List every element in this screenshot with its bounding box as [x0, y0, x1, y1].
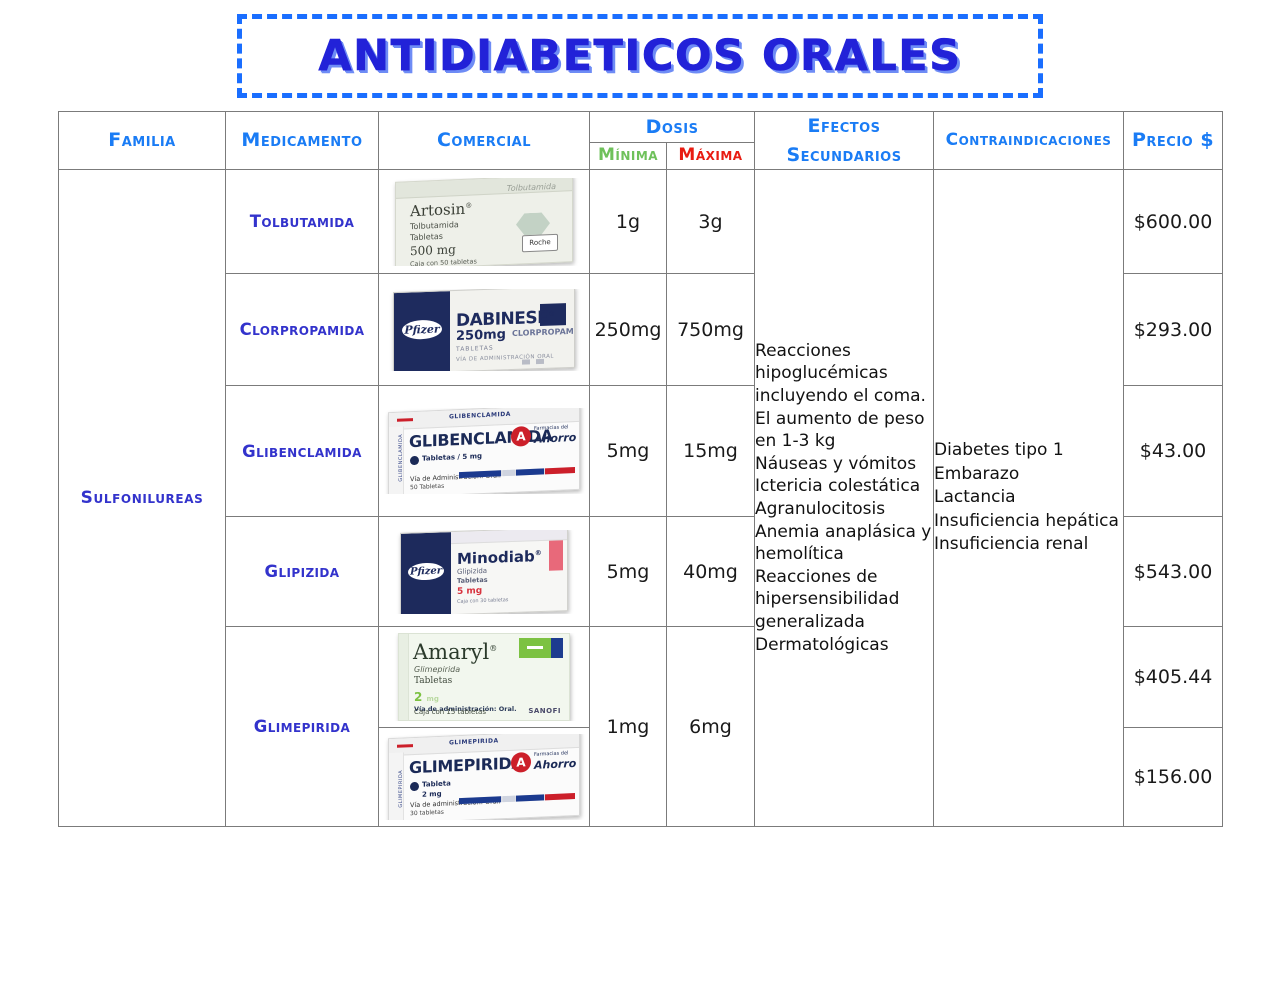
bullet-dot-icon	[410, 456, 419, 465]
product-presentation-label: Caja con 30 tabletas	[457, 597, 508, 605]
header-familia: Familia	[59, 112, 226, 170]
product-box-amaryl: Amaryl® Glimepirida Tabletas 2 mg Vía de…	[398, 633, 570, 721]
cell-medicamento-clorpropamida: Clorpropamida	[226, 274, 379, 386]
header-efectos-line2: secundarios	[755, 141, 933, 170]
cell-dosis-maxima: 15mg	[667, 386, 755, 517]
carton-side-text: GLIMEPIRIDA	[398, 751, 404, 807]
product-strength-label: 250mg	[456, 327, 506, 344]
product-generic-label: Glimepirida	[414, 665, 460, 674]
product-box-glimepirida: GLIMEPIRIDA GLIMEPIRIDA GLIMEPIRIDA Tabl…	[388, 734, 580, 820]
cell-medicamento-tolbutamida: Tolbutamida	[226, 170, 379, 274]
header-dosis-maxima: Máxima	[667, 142, 755, 169]
header-contraindicaciones: Contraindicaciones	[934, 112, 1124, 170]
cell-dosis-minima: 1g	[590, 170, 667, 274]
header-dosis: Dosis	[590, 112, 755, 143]
cell-medicamento-glibenclamida: Glibenclamida	[226, 386, 379, 517]
farmacias-ahorro-logo-icon: A Farmacias del Ahorro	[511, 424, 569, 449]
cell-precio: $156.00	[1124, 728, 1223, 827]
cell-efectos-secundarios: Reacciones hipoglucémicas incluyendo el …	[755, 170, 934, 827]
sanofi-logo-icon: SANOFI	[528, 707, 561, 715]
carton-notch	[536, 358, 544, 363]
product-presentation-label: Caja con 15 tabletas	[414, 708, 486, 716]
cell-dosis-maxima: 3g	[667, 170, 755, 274]
carton-side-panel: GLIBENCLAMIDA	[389, 426, 404, 494]
table-row: Sulfonilureas Tolbutamida Tolbutamida Ar…	[59, 170, 1223, 274]
carton-top-text: GLIMEPIRIDA	[449, 737, 499, 746]
cell-contraindicaciones: Diabetes tipo 1 Embarazo Lactancia Insuf…	[934, 170, 1124, 827]
product-presentation-label: 30 tabletas	[410, 809, 444, 817]
header-dosis-minima: Mínima	[590, 142, 667, 169]
cell-precio: $43.00	[1124, 386, 1223, 517]
product-generic-label: Tolbutamida	[410, 220, 459, 231]
cell-dosis-maxima: 6mg	[667, 627, 755, 827]
product-box-dabinese: Pfizer DABINESE® 250mg CLORPROPAMIDA TAB…	[393, 289, 575, 371]
ahorro-a-icon: A	[511, 752, 531, 773]
header-efectos-secundarios: Efectos secundarios	[755, 112, 934, 170]
cell-dosis-maxima: 40mg	[667, 517, 755, 627]
poster-page: ANTIDIABETICOS ORALES Familia Medicament…	[0, 0, 1280, 989]
cell-dosis-minima: 5mg	[590, 386, 667, 517]
product-strength-label: 5 mg	[457, 586, 482, 597]
cell-producto-glibenclamida: GLIBENCLAMIDA GLIBENCLAMIDA GLIBENCLAMID…	[379, 386, 590, 517]
ahorro-logo-line2: Ahorro	[534, 757, 576, 772]
cell-dosis-minima: 1mg	[590, 627, 667, 827]
cell-producto-artosin: Tolbutamida Artosin® Tolbutamida Tableta…	[379, 170, 590, 274]
cell-producto-glimepirida-generico: GLIMEPIRIDA GLIMEPIRIDA GLIMEPIRIDA Tabl…	[379, 728, 590, 827]
header-precio: Precio $	[1124, 112, 1223, 170]
carton-corner-block	[549, 540, 563, 570]
product-form-label: Tableta	[422, 779, 451, 788]
ahorro-a-icon: A	[511, 426, 531, 447]
product-form-label: Tabletas	[414, 676, 452, 686]
bullet-dot-icon	[410, 782, 419, 791]
cell-producto-dabinese: Pfizer DABINESE® 250mg CLORPROPAMIDA TAB…	[379, 274, 590, 386]
cell-dosis-maxima: 750mg	[667, 274, 755, 386]
carton-red-stripe	[397, 418, 413, 422]
cell-producto-minodiab: Pfizer Minodiab® Glipizida Tabletas 5 mg…	[379, 517, 590, 627]
carton-corner-block	[519, 638, 563, 658]
product-form-label: Tabletas / 5 mg	[422, 452, 482, 463]
product-strength-label: 2 mg	[414, 690, 439, 704]
table-header-row-1: Familia Medicamento Comercial Dosis Efec…	[59, 112, 1223, 143]
cell-producto-amaryl: Amaryl® Glimepirida Tabletas 2 mg Vía de…	[379, 627, 590, 728]
carton-notch	[522, 359, 530, 364]
roche-logo-icon: Roche	[522, 233, 558, 252]
cell-dosis-minima: 250mg	[590, 274, 667, 386]
carton-side-panel: GLIMEPIRIDA	[389, 752, 404, 820]
product-strength-label: 500 mg	[410, 242, 456, 258]
carton-color-bar	[459, 793, 575, 804]
header-medicamento: Medicamento	[226, 112, 379, 170]
cell-dosis-minima: 5mg	[590, 517, 667, 627]
product-brand-label: GLIMEPIRIDA	[409, 753, 523, 777]
carton-side-text: GLIBENCLAMIDA	[398, 425, 404, 481]
product-brand-label: Minodiab®	[457, 546, 542, 567]
header-efectos-line1: Efectos	[755, 112, 933, 141]
cell-familia-sulfonilureas: Sulfonilureas	[59, 170, 226, 827]
cell-precio: $600.00	[1124, 170, 1223, 274]
carton-top-text: GLIBENCLAMIDA	[449, 411, 511, 421]
cell-precio: $293.00	[1124, 274, 1223, 386]
title-banner: ANTIDIABETICOS ORALES	[237, 14, 1043, 98]
product-presentation-label: Caja con 50 tabletas	[410, 257, 477, 266]
product-box-glibenclamida: GLIBENCLAMIDA GLIBENCLAMIDA GLIBENCLAMID…	[388, 408, 580, 494]
ahorro-logo-line2: Ahorro	[534, 431, 576, 446]
product-box-minodiab: Pfizer Minodiab® Glipizida Tabletas 5 mg…	[400, 530, 568, 614]
product-generic-label: Glipizida	[457, 566, 487, 575]
header-comercial: Comercial	[379, 112, 590, 170]
antidiabetics-table: Familia Medicamento Comercial Dosis Efec…	[58, 111, 1223, 827]
product-presentation-label: 50 Tabletas	[410, 483, 444, 491]
carton-color-bar	[459, 467, 575, 478]
carton-side-text: Tolbutamida	[507, 181, 556, 192]
hexagon-decor-icon	[516, 212, 550, 235]
farmacias-ahorro-logo-icon: A Farmacias del Ahorro	[511, 750, 569, 775]
product-form-label: TABLETAS	[456, 344, 494, 352]
product-brand-label: Artosin®	[410, 199, 472, 220]
cell-medicamento-glimepirida: Glimepirida	[226, 627, 379, 827]
cell-medicamento-glipizida: Glipizida	[226, 517, 379, 627]
page-title: ANTIDIABETICOS ORALES	[318, 31, 961, 81]
carton-red-stripe	[397, 744, 413, 748]
product-box-artosin: Tolbutamida Artosin® Tolbutamida Tableta…	[395, 178, 573, 266]
product-form-label: Tabletas	[410, 231, 443, 241]
product-form-label: Tabletas	[457, 575, 488, 584]
cell-precio: $543.00	[1124, 517, 1223, 627]
cell-precio: $405.44	[1124, 627, 1223, 728]
product-brand-label: Amaryl®	[413, 640, 497, 664]
product-strength-label: 2 mg	[422, 790, 442, 799]
carton-side-panel	[399, 634, 409, 720]
